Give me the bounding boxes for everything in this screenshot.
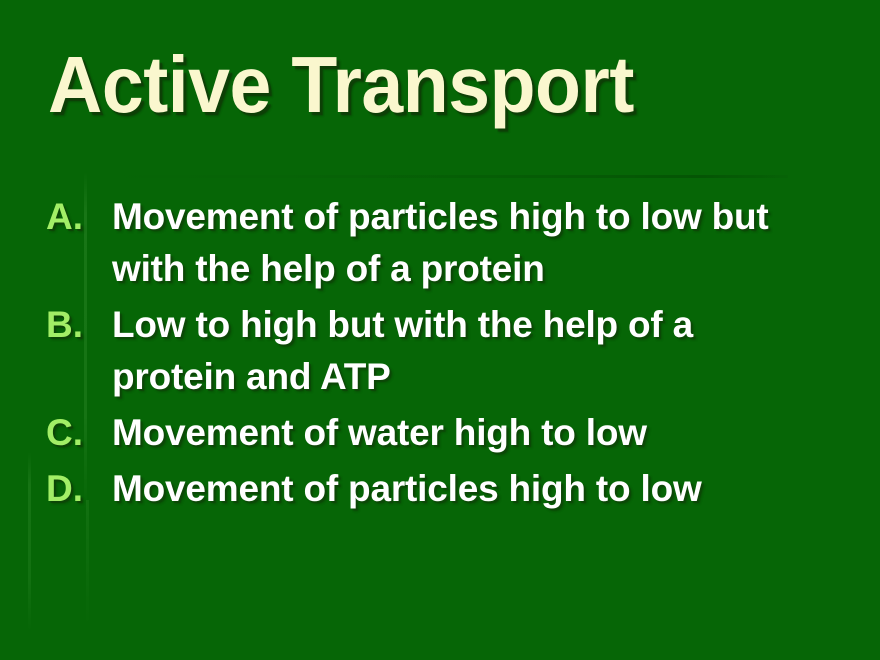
title-divider: [78, 175, 788, 178]
option-marker-a: A.: [46, 191, 112, 243]
answer-options-list: A. Movement of particles high to low but…: [46, 191, 846, 519]
background-streak-lower-left: [28, 452, 31, 632]
option-text-c: Movement of water high to low: [112, 407, 824, 459]
page-title: Active Transport: [48, 42, 800, 128]
list-item[interactable]: B. Low to high but with the help of a pr…: [46, 299, 846, 403]
list-item[interactable]: C. Movement of water high to low: [46, 407, 846, 459]
option-marker-c: C.: [46, 407, 112, 459]
list-item[interactable]: D. Movement of particles high to low: [46, 463, 846, 515]
background-streak-lower-inner: [86, 500, 89, 628]
option-text-b: Low to high but with the help of a prote…: [112, 299, 824, 403]
option-marker-b: B.: [46, 299, 112, 351]
list-item[interactable]: A. Movement of particles high to low but…: [46, 191, 846, 295]
option-text-a: Movement of particles high to low but wi…: [112, 191, 824, 295]
option-text-d: Movement of particles high to low: [112, 463, 824, 515]
option-marker-d: D.: [46, 463, 112, 515]
slide-canvas: Active Transport A. Movement of particle…: [0, 0, 880, 660]
